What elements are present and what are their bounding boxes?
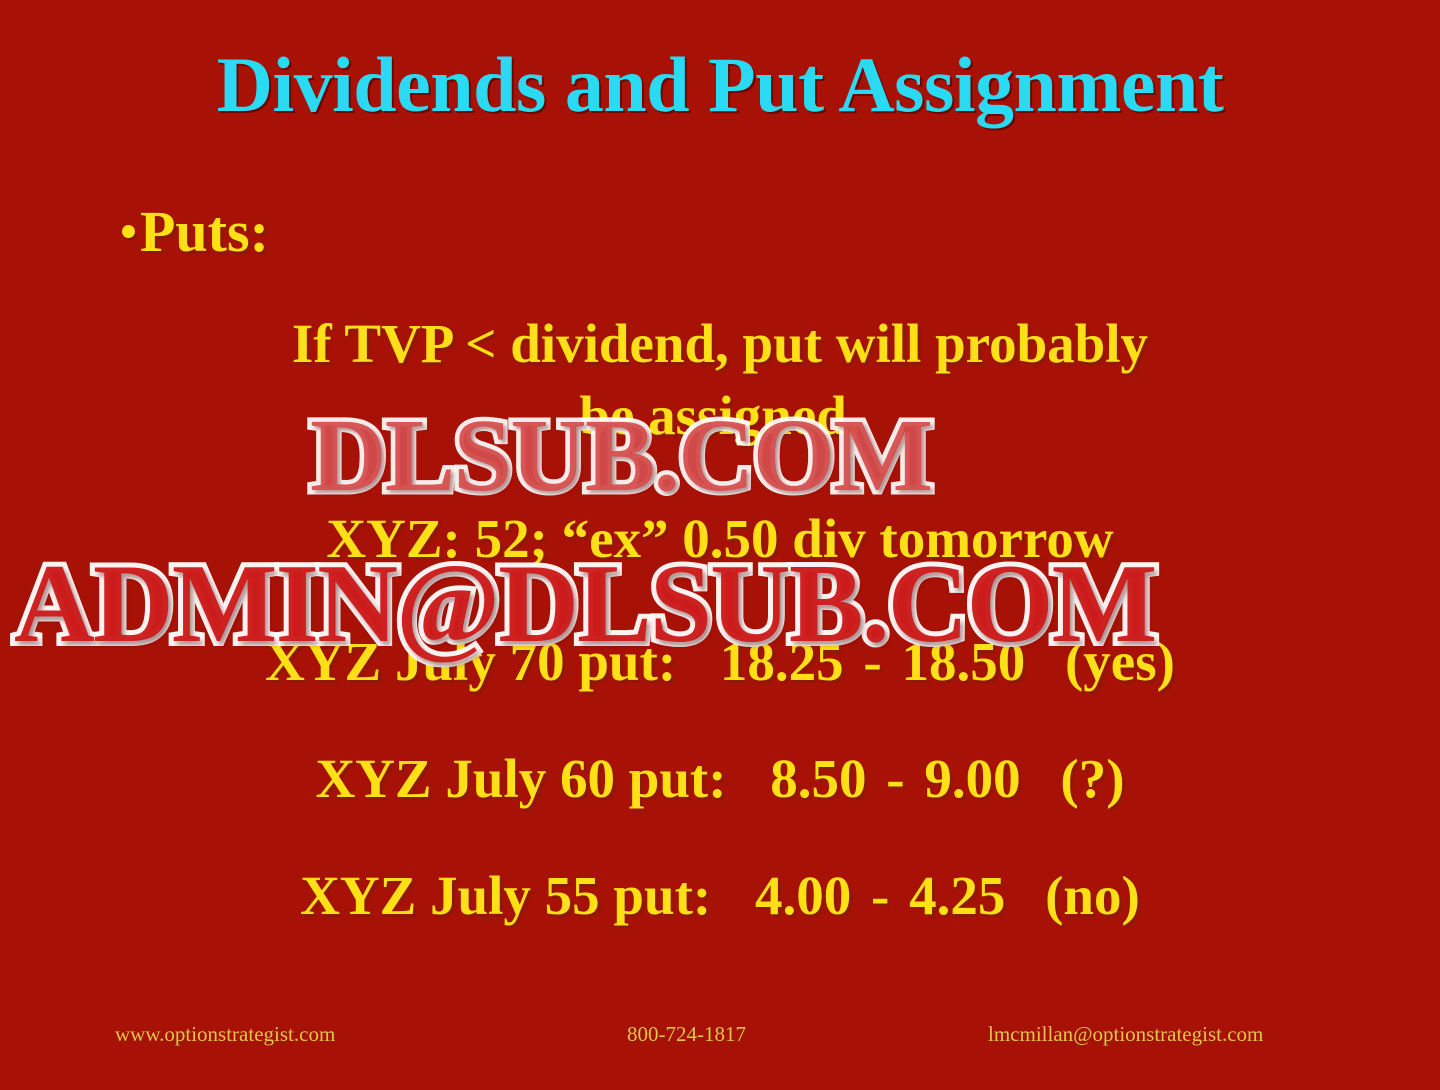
- footer-website: www.optionstrategist.com: [115, 1022, 335, 1047]
- quote-row-july-55: XYZ July 55 put: 4.00 - 4.25 (no): [0, 868, 1440, 923]
- quote-note: (no): [1045, 868, 1140, 923]
- quote-label: XYZ July 55 put:: [300, 868, 711, 923]
- quote-bid: 4.00: [755, 868, 851, 923]
- quote-dash: -: [886, 751, 904, 806]
- quote-label: XYZ July 70 put:: [265, 634, 676, 689]
- bullet-dot-icon: [122, 225, 135, 238]
- quote-row-july-70: XYZ July 70 put: 18.25 - 18.50 (yes): [0, 634, 1440, 689]
- footer-phone: 800-724-1817: [627, 1022, 746, 1047]
- rule-sentence-line-2: be assigned.: [0, 388, 1440, 443]
- page-title: Dividends and Put Assignment: [0, 44, 1440, 126]
- bullet-item-label: Puts:: [140, 198, 269, 265]
- quote-ask: 4.25: [909, 868, 1005, 923]
- rule-sentence-line-1: If TVP < dividend, put will probably: [0, 316, 1440, 371]
- footer-email: lmcmillan@optionstrategist.com: [988, 1022, 1263, 1047]
- quote-note: (yes): [1065, 634, 1175, 689]
- quote-row-july-60: XYZ July 60 put: 8.50 - 9.00 (?): [0, 751, 1440, 806]
- slide-footer: www.optionstrategist.com 800-724-1817 lm…: [0, 1022, 1440, 1052]
- quote-dash: -: [871, 868, 889, 923]
- quote-dash: -: [863, 634, 881, 689]
- quote-label: XYZ July 60 put:: [315, 751, 726, 806]
- quote-ask: 9.00: [924, 751, 1020, 806]
- slide-canvas: Dividends and Put Assignment Puts: If TV…: [0, 0, 1440, 1090]
- quote-ask: 18.50: [901, 634, 1025, 689]
- quote-bid: 8.50: [770, 751, 866, 806]
- bullet-item-puts: Puts:: [122, 198, 269, 265]
- quote-bid: 18.25: [720, 634, 844, 689]
- stock-example-line: XYZ: 52; “ex” 0.50 div tomorrow: [0, 511, 1440, 566]
- quote-note: (?): [1060, 751, 1124, 806]
